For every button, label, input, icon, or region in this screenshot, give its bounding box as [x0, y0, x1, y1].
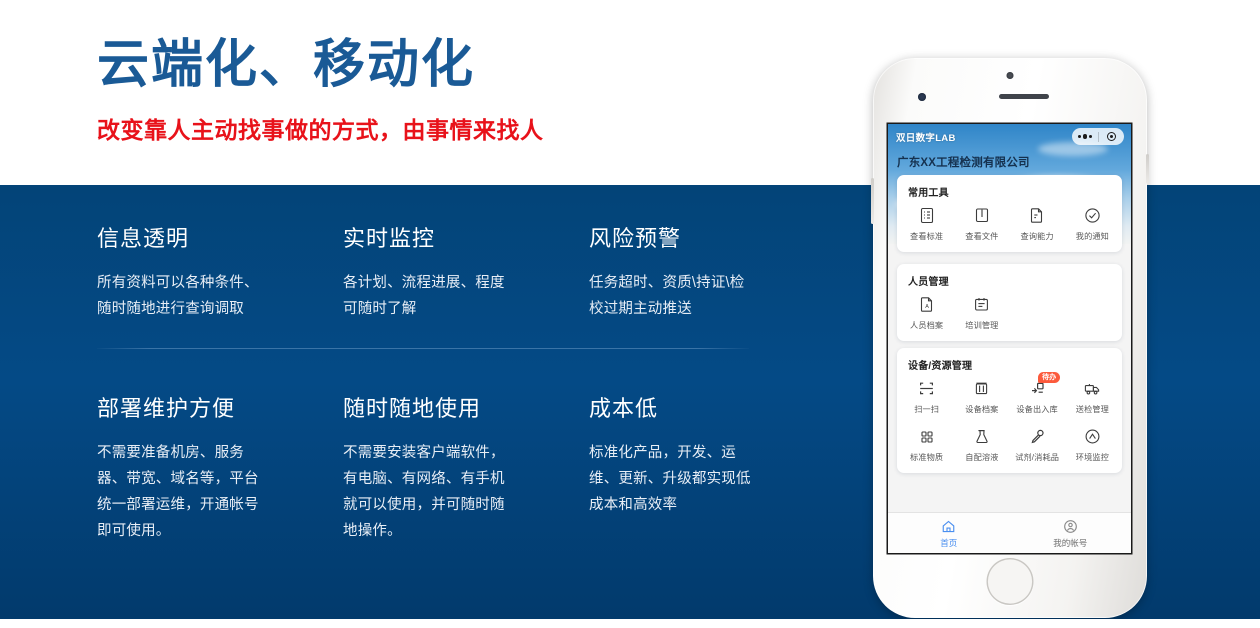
environment-monitoring[interactable]: 环境监控 [1065, 427, 1120, 463]
card-device-resource-management: 设备/资源管理 扫一扫 [897, 348, 1122, 473]
feature-heading: 随时随地使用 [343, 391, 589, 423]
earpiece-speaker [999, 94, 1049, 99]
feature-card-easy-deploy: 部署维护方便 不需要准备机房、服务器、带宽、域名等，平台统一部署运维，开通帐号即… [97, 391, 343, 544]
proximity-sensor-icon [918, 93, 926, 101]
item-label: 查看文件 [965, 230, 998, 242]
device-records[interactable]: 设备档案 [954, 379, 1009, 415]
more-dots-icon[interactable] [1072, 134, 1098, 139]
home-button[interactable] [987, 558, 1034, 605]
feature-body: 标准化产品，开发、运维、更新、升级都实现低成本和高效率 [589, 440, 757, 518]
scan-icon [917, 379, 936, 398]
check-circle-icon [1083, 206, 1102, 225]
tab-label: 首页 [940, 537, 957, 549]
feature-card-realtime-monitor: 实时监控 各计划、流程进展、程度可随时了解 [343, 221, 589, 349]
feature-heading: 成本低 [589, 391, 757, 423]
item-label: 查询能力 [1021, 230, 1054, 242]
self-prepared-solution[interactable]: 自配溶液 [954, 427, 1009, 463]
feature-body: 不需要准备机房、服务器、带宽、域名等，平台统一部署运维，开通帐号即可使用。 [97, 440, 269, 544]
bottom-tabbar: 首页 我的帐号 [888, 512, 1131, 553]
phone-mockup: 双日数字LAB 广东XX工程检测有限公司 常用工具 [873, 58, 1147, 618]
standard-substances[interactable]: 标准物质 [899, 427, 954, 463]
page-root: 云端化、移动化 改变靠人主动找事做的方式，由事情来找人 信息透明 所有资料可以各… [0, 0, 1260, 628]
phone-power-button [1146, 154, 1149, 184]
flask-icon [972, 427, 991, 446]
page-bottom-strip [0, 619, 1260, 628]
item-label: 送检管理 [1076, 403, 1109, 415]
book-icon [972, 206, 991, 225]
home-icon [940, 518, 957, 535]
page-subtitle: 改变靠人主动找事做的方式，由事情来找人 [97, 111, 544, 145]
status-badge: 待办 [1038, 372, 1060, 383]
item-label: 标准物质 [910, 451, 943, 463]
feature-body: 任务超时、资质\持证\检校过期主动推送 [589, 270, 757, 322]
id-card-icon: A [917, 295, 936, 314]
tab-home[interactable]: 首页 [888, 513, 1010, 553]
tab-label: 我的帐号 [1053, 537, 1087, 549]
item-label: 扫一扫 [914, 403, 939, 415]
device-in-out-store[interactable]: 待办 设备出入库 [1010, 379, 1065, 415]
item-label: 设备出入库 [1016, 403, 1057, 415]
card-title: 设备/资源管理 [897, 348, 1122, 372]
item-label: 培训管理 [965, 319, 998, 331]
target-circle-icon[interactable] [1099, 132, 1125, 141]
item-label: 设备档案 [965, 403, 998, 415]
training-management[interactable]: 培训管理 [954, 295, 1009, 331]
feature-body: 各计划、流程进展、程度可随时了解 [343, 270, 515, 322]
clipboard-icon [972, 295, 991, 314]
feature-heading: 实时监控 [343, 221, 589, 253]
scan-qr[interactable]: 扫一扫 [899, 379, 954, 415]
user-circle-icon [1062, 518, 1079, 535]
item-label: 我的通知 [1076, 230, 1109, 242]
feature-card-anywhere-anytime: 随时随地使用 不需要安装客户端软件，有电脑、有网络、有手机就可以使用，并可随时随… [343, 391, 589, 544]
card-items-row-1: 扫一扫 设备档案 [897, 372, 1122, 425]
card-items-row-2: 标准物质 自配溶液 [897, 425, 1122, 473]
item-label: 人员档案 [910, 319, 943, 331]
mini-program-title: 双日数字LAB [896, 130, 956, 144]
tool-my-notifications[interactable]: 我的通知 [1065, 206, 1120, 242]
card-items: 查看标准 查看文件 [897, 199, 1122, 252]
phone-volume-buttons [871, 178, 874, 224]
feature-grid: 信息透明 所有资料可以各种条件、随时随地进行查询调取 实时监控 各计划、流程进展… [97, 221, 757, 544]
phone-screen: 双日数字LAB 广东XX工程检测有限公司 常用工具 [888, 124, 1131, 553]
feature-card-low-cost: 成本低 标准化产品，开发、运维、更新、升级都实现低成本和高效率 [589, 391, 757, 544]
gauge-icon [1083, 427, 1102, 446]
card-common-tools: 常用工具 查看标准 [897, 175, 1122, 252]
front-camera-icon [1007, 72, 1014, 79]
item-label: 环境监控 [1076, 451, 1109, 463]
reagents-consumables[interactable]: 试剂/消耗品 [1010, 427, 1065, 463]
tool-query-capability[interactable]: 查询能力 [1010, 206, 1065, 242]
empty-slot [1010, 295, 1065, 331]
card-items: A 人员档案 [897, 288, 1122, 341]
card-title: 常用工具 [897, 175, 1122, 199]
card-personnel-management: 人员管理 A 人员档案 [897, 264, 1122, 341]
empty-slot [1065, 295, 1120, 331]
item-label: 查看标准 [910, 230, 943, 242]
item-label: 试剂/消耗品 [1015, 451, 1059, 463]
feature-heading: 部署维护方便 [97, 391, 343, 423]
pipette-icon [1028, 427, 1047, 446]
inspection-submission[interactable]: 送检管理 [1065, 379, 1120, 415]
truck-icon [1083, 379, 1102, 398]
feature-card-risk-alert: 风险预警 任务超时、资质\持证\检校过期主动推送 [589, 221, 757, 349]
tool-view-files[interactable]: 查看文件 [954, 206, 1009, 242]
feature-body: 不需要安装客户端软件，有电脑、有网络、有手机就可以使用，并可随时随地操作。 [343, 440, 515, 544]
document-lines-icon [917, 206, 936, 225]
page-title: 云端化、移动化 [97, 22, 475, 97]
file-corner-icon [1028, 206, 1047, 225]
device-icon [972, 379, 991, 398]
feature-body: 所有资料可以各种条件、随时随地进行查询调取 [97, 270, 269, 322]
grid-dots-icon [917, 427, 936, 446]
tab-my-account[interactable]: 我的帐号 [1010, 513, 1132, 553]
feature-heading: 信息透明 [97, 221, 343, 253]
feature-heading: 风险预警 [589, 221, 757, 253]
feature-row-2: 部署维护方便 不需要准备机房、服务器、带宽、域名等，平台统一部署运维，开通帐号即… [97, 391, 757, 544]
miniprogram-capsule-bar [1072, 128, 1124, 145]
card-title: 人员管理 [897, 264, 1122, 288]
personnel-records[interactable]: A 人员档案 [899, 295, 954, 331]
company-name: 广东XX工程检测有限公司 [897, 154, 1030, 170]
section-divider [97, 348, 749, 349]
svg-text:A: A [925, 304, 929, 310]
feature-row-1: 信息透明 所有资料可以各种条件、随时随地进行查询调取 实时监控 各计划、流程进展… [97, 221, 757, 349]
item-label: 自配溶液 [965, 451, 998, 463]
tool-view-standards[interactable]: 查看标准 [899, 206, 954, 242]
feature-card-info-transparency: 信息透明 所有资料可以各种条件、随时随地进行查询调取 [97, 221, 343, 349]
